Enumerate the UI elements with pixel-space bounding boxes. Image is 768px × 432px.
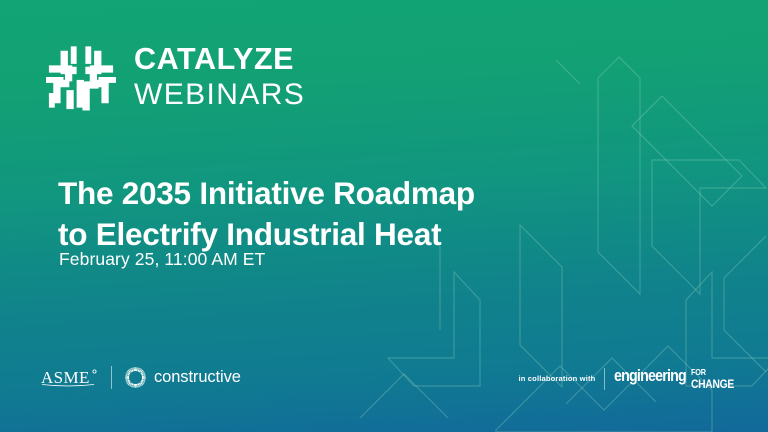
catalyze-webinars-brand-lockup: CATALYZE WEBINARS — [44, 42, 305, 112]
partner-logo-lockup: ASME — [40, 364, 241, 390]
constructive-wordmark: constructive — [154, 368, 241, 387]
e4c-word-change: CHANGE — [691, 378, 734, 390]
e4c-word-for: FOR — [691, 368, 734, 377]
page-title-line-1: The 2035 Initiative Roadmap — [58, 173, 598, 214]
constructive-logo: constructive — [125, 367, 241, 388]
event-datetime: February 25, 11:00 AM ET — [59, 249, 265, 270]
e4c-word-engineering: engineering — [614, 368, 686, 385]
partner-divider — [111, 366, 112, 389]
brand-wordmark: CATALYZE WEBINARS — [134, 44, 305, 110]
constructive-globe-c-mark — [125, 367, 146, 388]
collaboration-label: in collaboration with — [518, 374, 595, 383]
catalyze-arrow-burst-mark — [44, 42, 118, 112]
collaboration-divider — [604, 368, 605, 390]
e4c-stacked-words: FOR CHANGE — [691, 368, 741, 391]
engineering-for-change-logo: engineering FOR CHANGE — [614, 368, 741, 391]
page-title: The 2035 Initiative Roadmap to Electrify… — [58, 173, 598, 255]
brand-name-catalyze: CATALYZE — [134, 44, 305, 75]
asme-logo: ASME — [40, 366, 98, 388]
brand-name-webinars: WEBINARS — [134, 80, 305, 110]
collaboration-lockup: in collaboration with engineering FOR CH… — [518, 368, 741, 391]
svg-text:ASME: ASME — [41, 368, 90, 387]
webinar-promo-slide: CATALYZE WEBINARS The 2035 Initiative Ro… — [0, 0, 768, 432]
